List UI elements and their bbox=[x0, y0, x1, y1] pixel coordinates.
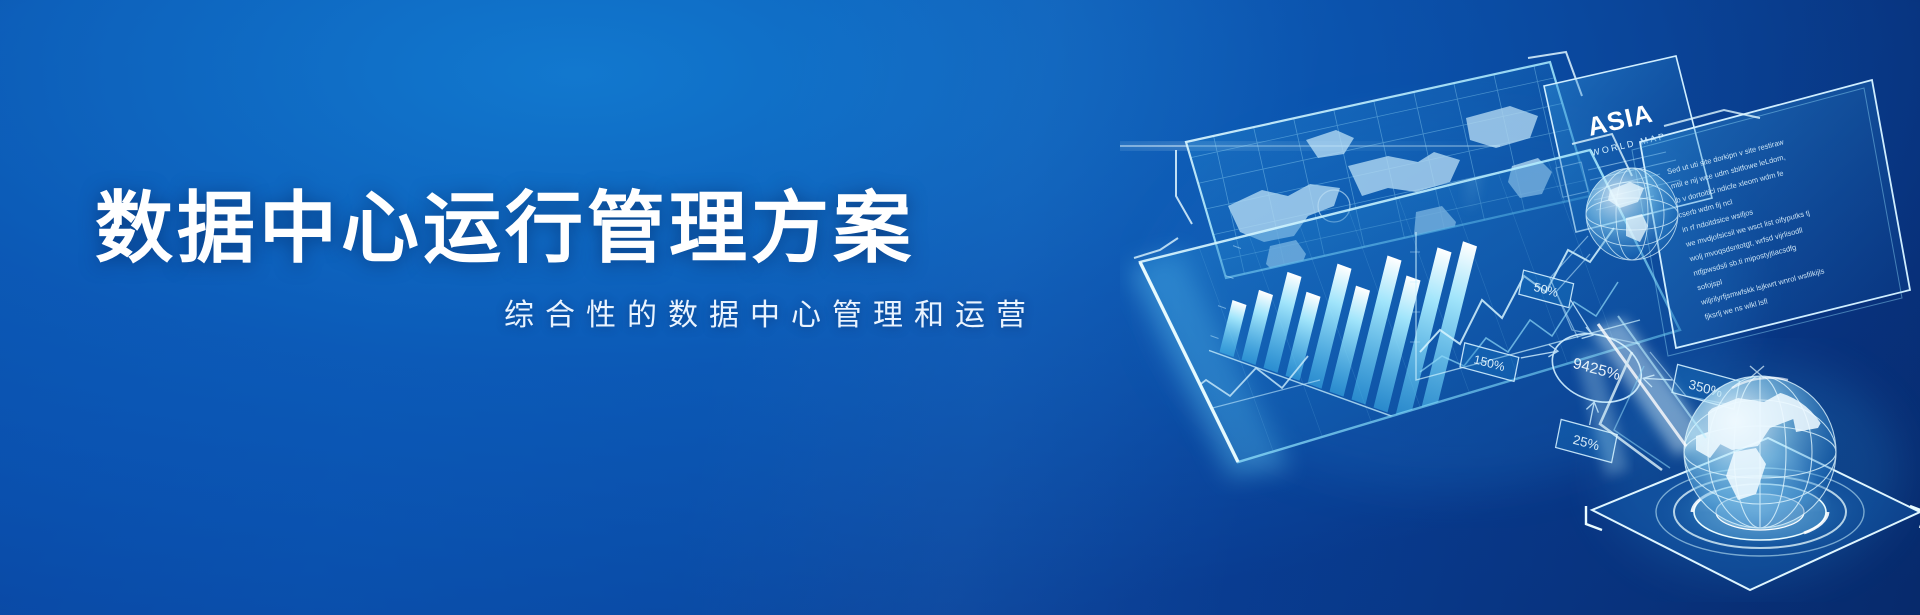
small-wireframe-globe bbox=[1586, 168, 1678, 260]
page-subtitle: 综合性的数据中心管理和运营 bbox=[95, 298, 1055, 334]
hero-banner: ASIA WORLD MAP bbox=[0, 0, 1920, 615]
hologram-scene: ASIA WORLD MAP bbox=[1120, 0, 1920, 615]
hero-text-block: 数据中心运行管理方案 综合性的数据中心管理和运营 bbox=[95, 186, 1055, 334]
page-title: 数据中心运行管理方案 bbox=[95, 186, 1055, 270]
